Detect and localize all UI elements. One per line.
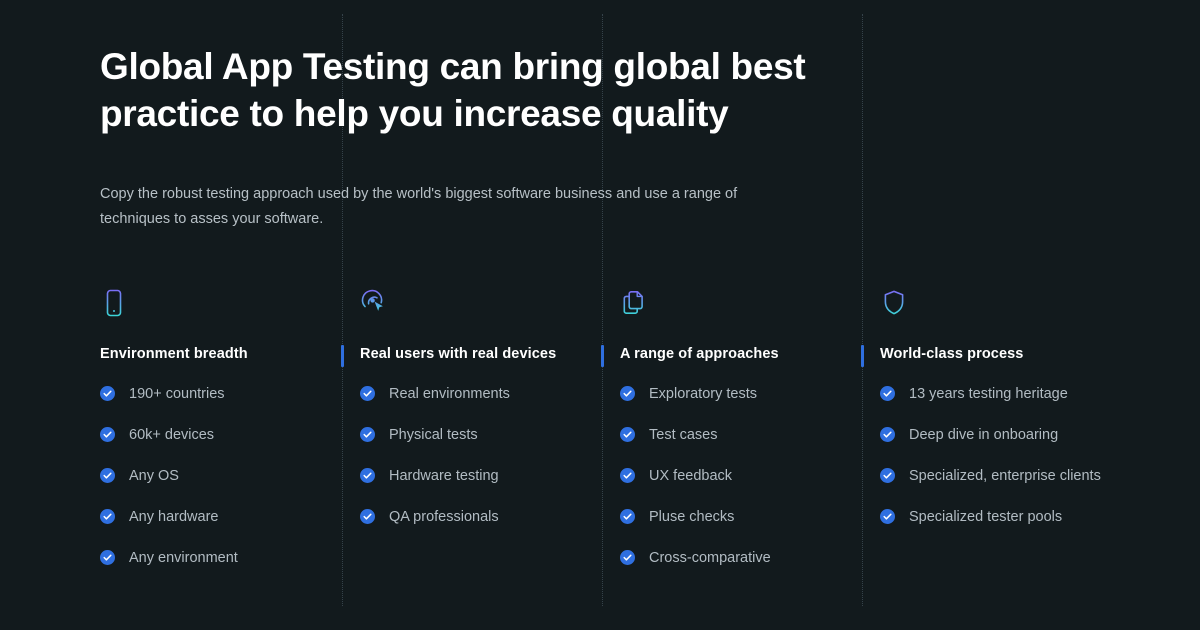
feature-column-approaches: A range of approaches Exploratory tests … (620, 288, 880, 589)
list-item-label: 190+ countries (129, 384, 225, 405)
list-item: QA professionals (360, 507, 594, 528)
list-item-label: 13 years testing heritage (909, 384, 1068, 405)
list-item: Specialized tester pools (880, 507, 1114, 528)
column-title: A range of approaches (620, 346, 854, 362)
check-circle-icon (620, 386, 635, 401)
list-item: Cross-comparative (620, 548, 854, 569)
list-item: 13 years testing heritage (880, 384, 1114, 405)
feature-list: 190+ countries 60k+ devices Any OS (100, 384, 334, 569)
list-item-label: Test cases (649, 425, 718, 446)
check-circle-icon (620, 468, 635, 483)
list-item: Real environments (360, 384, 594, 405)
list-item-label: Any hardware (129, 507, 218, 528)
check-circle-icon (360, 509, 375, 524)
list-item-label: Any OS (129, 466, 179, 487)
list-item: 190+ countries (100, 384, 334, 405)
check-circle-icon (100, 386, 115, 401)
feature-list: Exploratory tests Test cases UX feedback (620, 384, 854, 569)
feature-list: 13 years testing heritage Deep dive in o… (880, 384, 1114, 528)
smartphone-icon (100, 288, 128, 318)
check-circle-icon (880, 509, 895, 524)
feature-columns: Environment breadth 190+ countries 60k+ … (0, 288, 1200, 589)
list-item-label: UX feedback (649, 466, 732, 487)
check-circle-icon (880, 468, 895, 483)
check-circle-icon (100, 509, 115, 524)
list-item: Any OS (100, 466, 334, 487)
column-title: Environment breadth (100, 346, 334, 362)
list-item-label: QA professionals (389, 507, 499, 528)
list-item-label: Real environments (389, 384, 510, 405)
page-subtitle: Copy the robust testing approach used by… (100, 182, 800, 232)
column-title: World-class process (880, 346, 1114, 362)
check-circle-icon (620, 427, 635, 442)
check-circle-icon (100, 550, 115, 565)
page-title: Global App Testing can bring global best… (100, 44, 820, 137)
list-item: 60k+ devices (100, 425, 334, 446)
list-item-label: 60k+ devices (129, 425, 214, 446)
check-circle-icon (620, 509, 635, 524)
list-item: Specialized, enterprise clients (880, 466, 1114, 487)
list-item-label: Hardware testing (389, 466, 499, 487)
feature-list: Real environments Physical tests Hardwar… (360, 384, 594, 528)
copy-documents-icon (620, 288, 648, 318)
list-item: Physical tests (360, 425, 594, 446)
list-item-label: Any environment (129, 548, 238, 569)
list-item-label: Deep dive in onboaring (909, 425, 1058, 446)
list-item: Any hardware (100, 507, 334, 528)
list-item-label: Physical tests (389, 425, 478, 446)
list-item-label: Exploratory tests (649, 384, 757, 405)
feature-column-world-class-process: World-class process 13 years testing her… (880, 288, 1140, 589)
list-item: Exploratory tests (620, 384, 854, 405)
check-circle-icon (100, 468, 115, 483)
list-item: Deep dive in onboaring (880, 425, 1114, 446)
column-title: Real users with real devices (360, 346, 594, 362)
check-circle-icon (360, 386, 375, 401)
tap-gesture-icon (360, 288, 388, 318)
list-item-label: Cross-comparative (649, 548, 771, 569)
list-item: Test cases (620, 425, 854, 446)
list-item-label: Pluse checks (649, 507, 734, 528)
check-circle-icon (880, 427, 895, 442)
feature-column-real-users: Real users with real devices Real enviro… (360, 288, 620, 589)
list-item-label: Specialized, enterprise clients (909, 466, 1101, 487)
list-item: Hardware testing (360, 466, 594, 487)
list-item-label: Specialized tester pools (909, 507, 1062, 528)
page-root: Global App Testing can bring global best… (0, 0, 1200, 630)
feature-column-environment-breadth: Environment breadth 190+ countries 60k+ … (100, 288, 360, 589)
shield-icon (880, 288, 908, 318)
list-item: Any environment (100, 548, 334, 569)
list-item: Pluse checks (620, 507, 854, 528)
header-block: Global App Testing can bring global best… (100, 44, 820, 137)
list-item: UX feedback (620, 466, 854, 487)
check-circle-icon (620, 550, 635, 565)
check-circle-icon (100, 427, 115, 442)
check-circle-icon (880, 386, 895, 401)
check-circle-icon (360, 427, 375, 442)
check-circle-icon (360, 468, 375, 483)
